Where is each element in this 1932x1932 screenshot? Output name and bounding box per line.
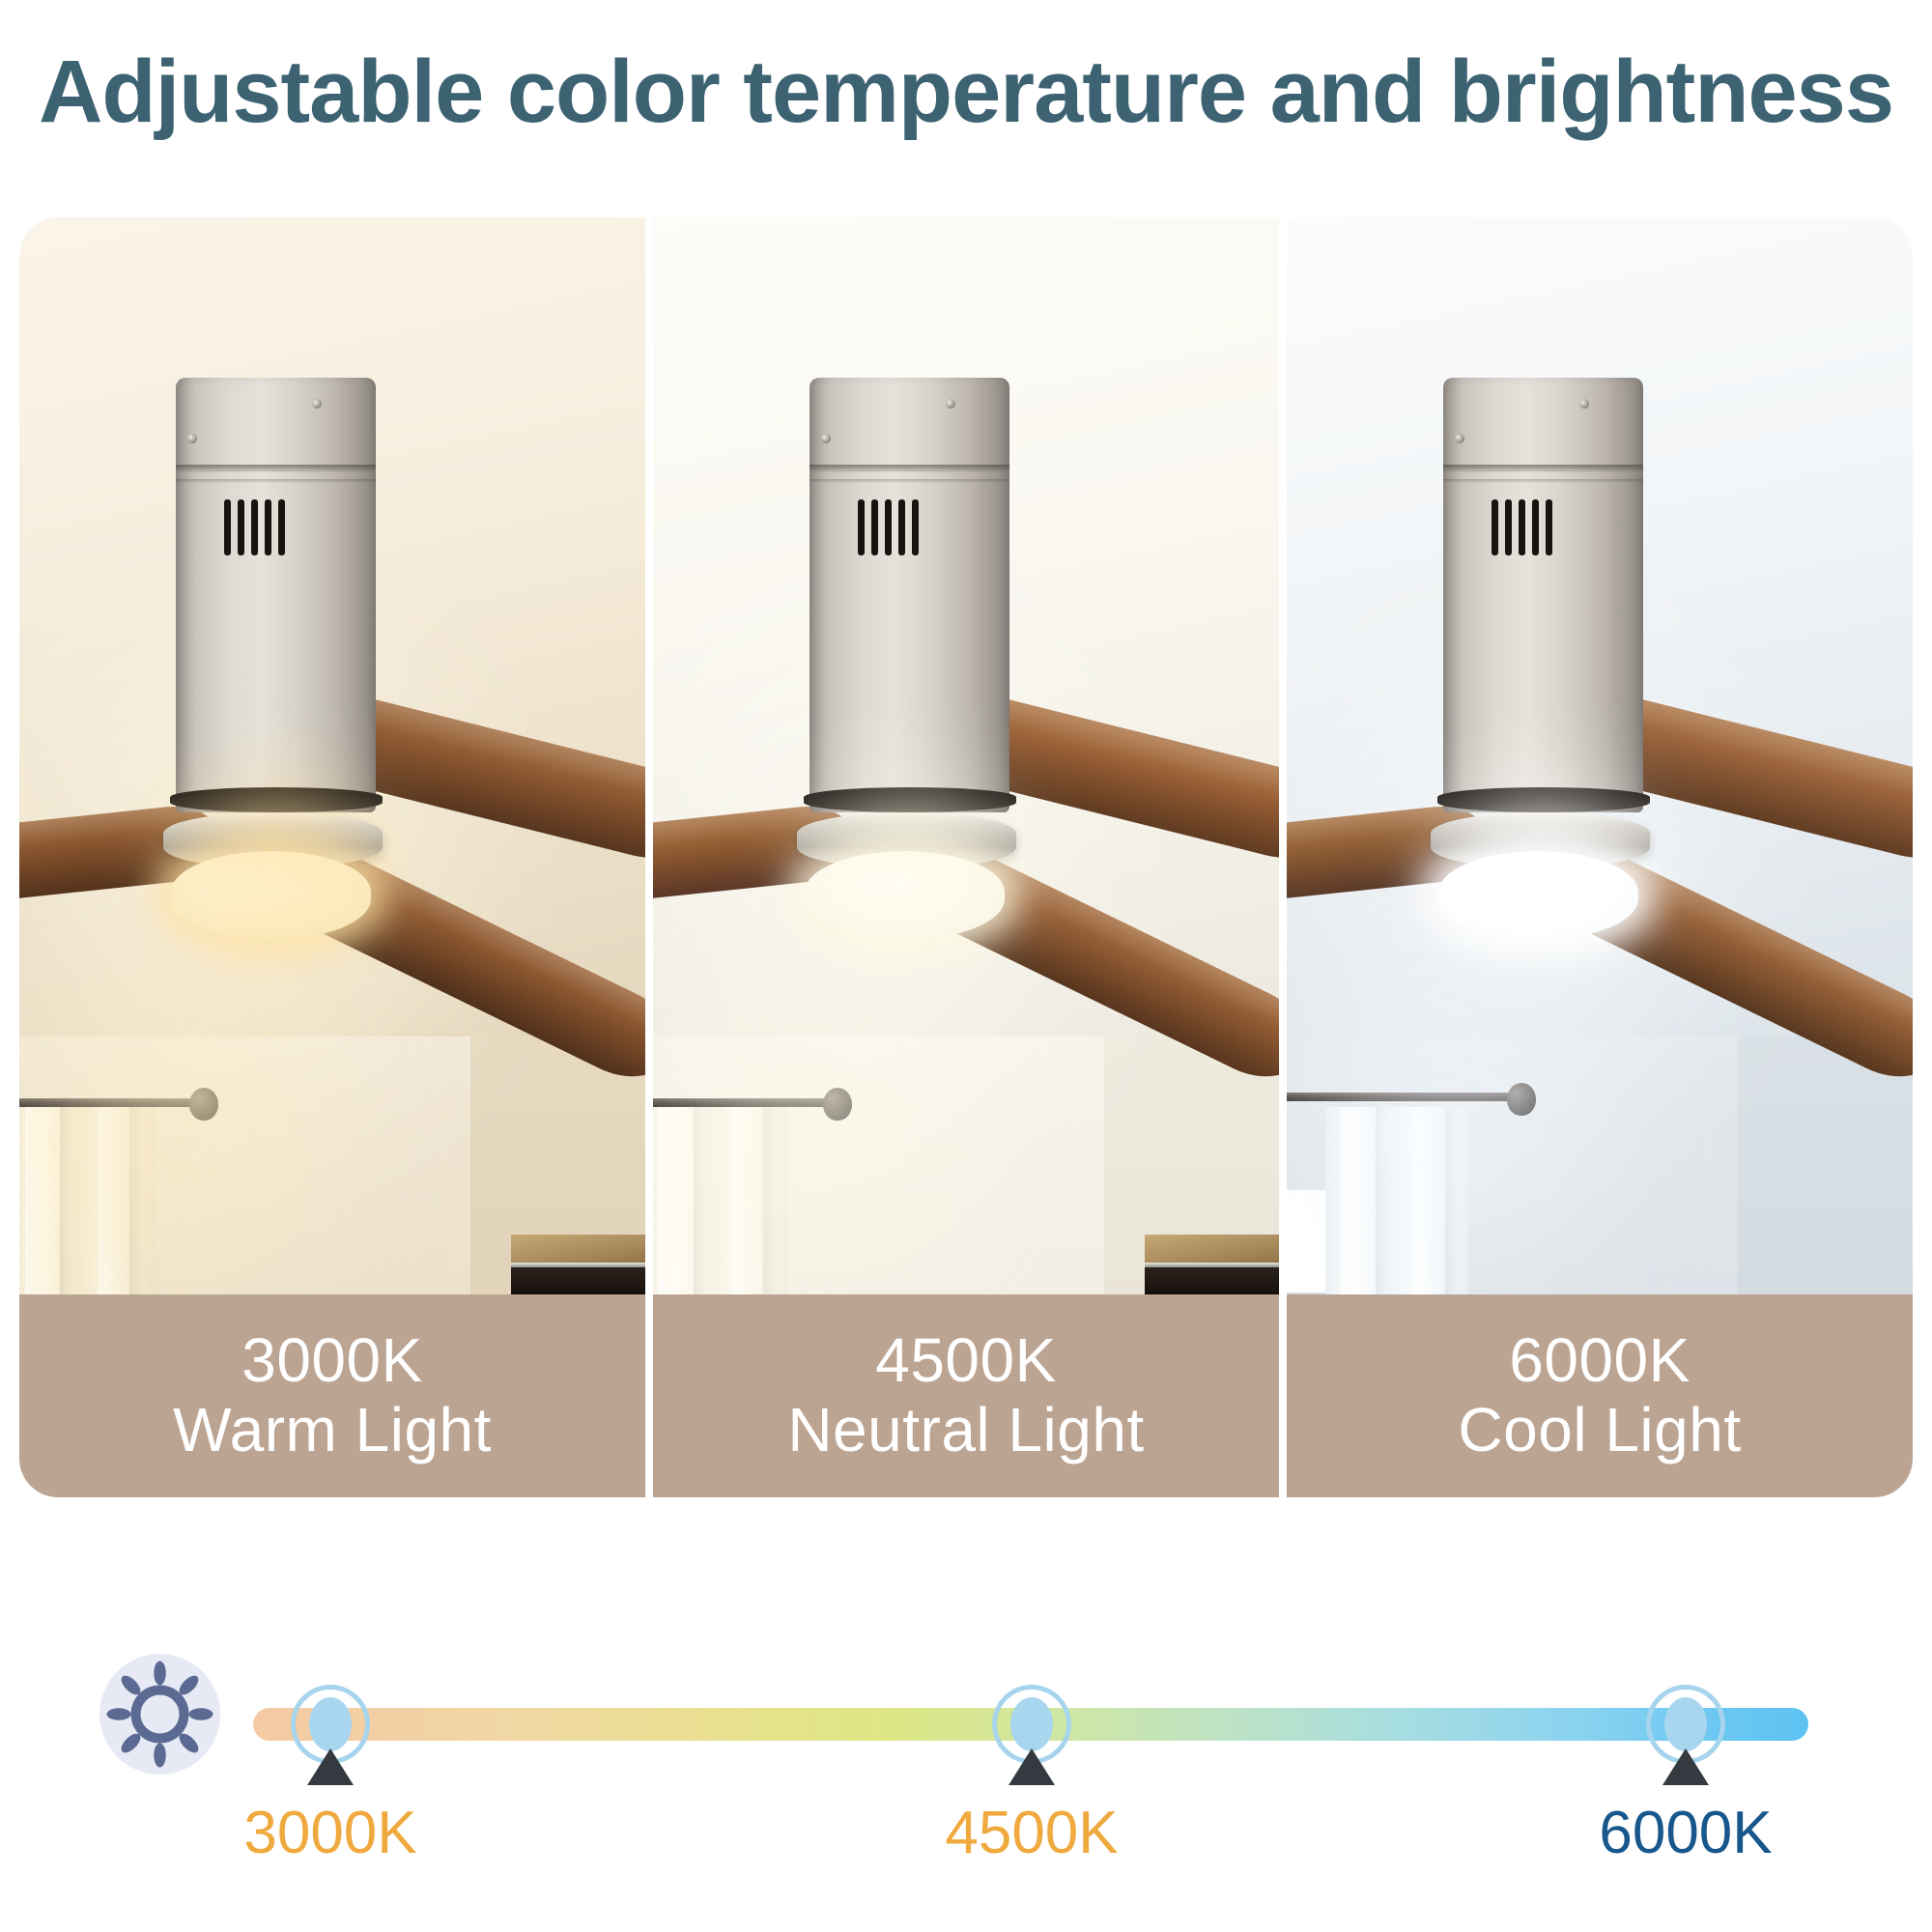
slider-handle-3000k[interactable] xyxy=(291,1685,370,1764)
panel-warm-3000k: 3000K Warm Light xyxy=(19,217,645,1497)
panel-neutral-4500k: 4500K Neutral Light xyxy=(653,217,1279,1497)
caption-kelvin: 3000K xyxy=(241,1326,423,1396)
motor-base-ring xyxy=(1437,787,1650,812)
page-title: Adjustable color temperature and brightn… xyxy=(0,44,1932,140)
slider-label-3000k: 3000K xyxy=(243,1799,416,1867)
slider-handle-6000k[interactable] xyxy=(1646,1685,1725,1764)
brightness-sun-icon xyxy=(99,1654,220,1775)
handle-knob xyxy=(1664,1697,1707,1751)
slider-label-4500k: 4500K xyxy=(945,1799,1118,1867)
color-temperature-comparison: 3000K Warm Light xyxy=(19,217,1913,1497)
infographic-page: Adjustable color temperature and brightn… xyxy=(0,0,1932,1932)
fan-motor-housing xyxy=(176,378,376,813)
motor-base-ring xyxy=(804,787,1016,812)
caption-neutral: 4500K Neutral Light xyxy=(653,1294,1279,1497)
panel-cool-6000k: 6000K Cool Light xyxy=(1287,217,1913,1497)
led-light-lens xyxy=(805,851,1005,940)
caption-kelvin: 6000K xyxy=(1509,1326,1690,1396)
handle-knob xyxy=(1010,1697,1053,1751)
handle-knob xyxy=(309,1697,352,1751)
fan-motor-housing xyxy=(810,378,1009,813)
caption-kelvin: 4500K xyxy=(875,1326,1057,1396)
motor-base-ring xyxy=(170,787,383,812)
handle-pointer-icon xyxy=(1662,1748,1709,1785)
led-light-lens xyxy=(1438,851,1638,940)
slider-label-6000k: 6000K xyxy=(1599,1799,1772,1867)
caption-warm: 3000K Warm Light xyxy=(19,1294,645,1497)
color-temperature-slider[interactable]: 3000K 4500K 6000K xyxy=(0,1642,1932,1932)
caption-description: Warm Light xyxy=(173,1396,492,1465)
handle-pointer-icon xyxy=(1009,1748,1055,1785)
caption-description: Cool Light xyxy=(1458,1396,1741,1465)
led-light-lens xyxy=(171,851,371,940)
caption-cool: 6000K Cool Light xyxy=(1287,1294,1913,1497)
fan-motor-housing xyxy=(1443,378,1643,813)
handle-pointer-icon xyxy=(307,1748,354,1785)
slider-handle-4500k[interactable] xyxy=(992,1685,1071,1764)
caption-description: Neutral Light xyxy=(787,1396,1144,1465)
